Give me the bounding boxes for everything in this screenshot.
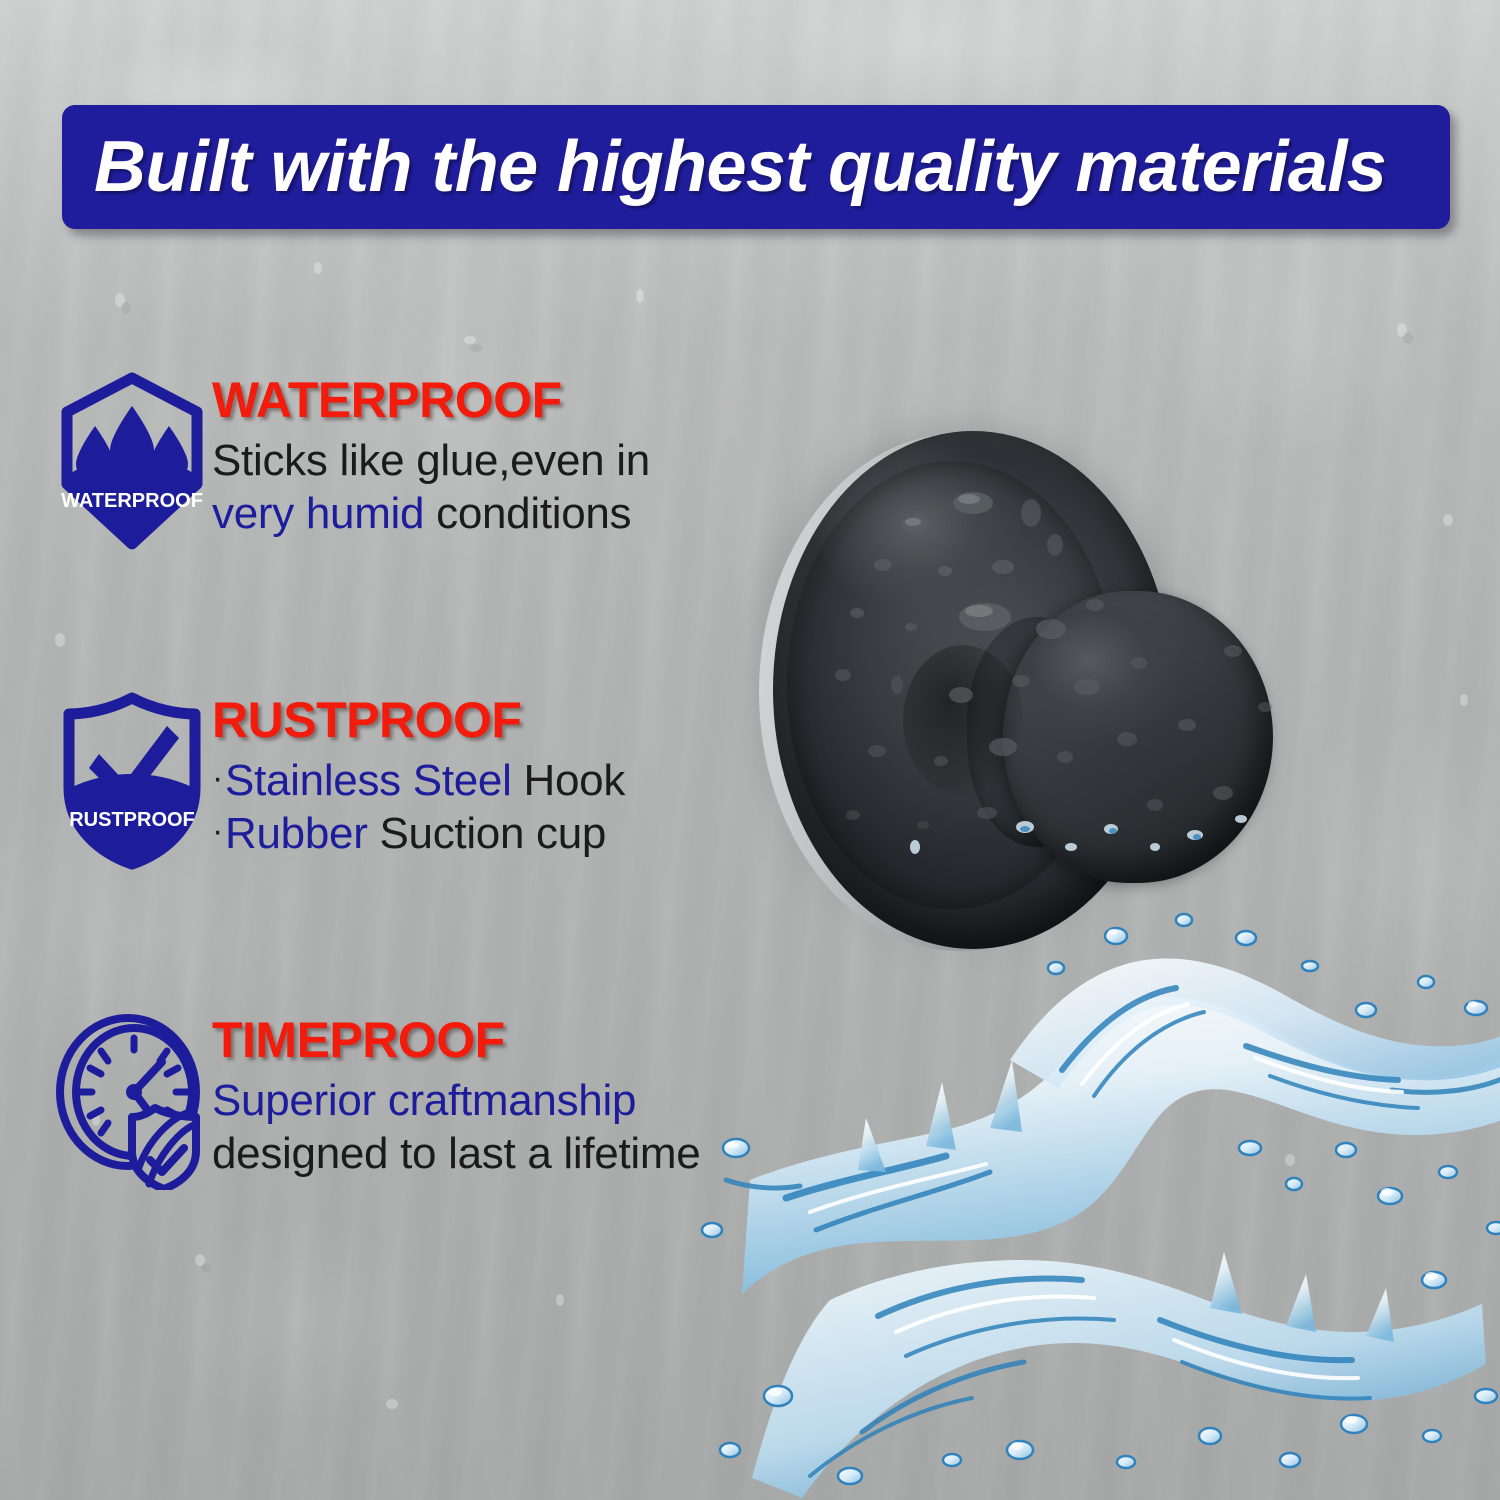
bullet-icon: · [212,759,225,797]
feature-line-text-accent: Stainless Steel [225,756,512,805]
feature-line: designed to last a lifetime [212,1127,700,1181]
feature-line-text: Hook [512,756,625,805]
feature-text-block: RUSTPROOF ·Stainless Steel Hook ·Rubber … [212,692,625,861]
product-image [735,395,1375,1035]
feature-heading: RUSTPROOF [212,694,625,748]
rustproof-shield-icon: RUSTPROOF [57,692,207,870]
bullet-icon: · [212,812,225,850]
feature-line: ·Rubber Suction cup [212,807,625,861]
feature-line-text: designed to last a lifetime [212,1129,700,1178]
product-water-droplets-icon [735,395,1375,1035]
feature-rustproof: RUSTPROOF RUSTPROOF ·Stainless Steel Hoo… [52,692,625,870]
waterproof-icon-label: WATERPROOF [61,490,203,512]
feature-line-text: conditions [424,489,631,538]
feature-icon-slot: RUSTPROOF [52,692,212,870]
waterproof-hexagon-icon: WATERPROOF [57,372,207,550]
feature-line: very humid conditions [212,487,650,541]
infographic-canvas: Built with the highest quality materials… [0,0,1500,1500]
feature-line: Superior craftmanship [212,1074,700,1128]
page-title: Built with the highest quality materials [94,131,1386,203]
feature-waterproof: WATERPROOF WATERPROOF Sticks like glue,e… [52,372,650,550]
feature-line-text: Sticks like glue,even in [212,436,650,485]
feature-line-text: Suction cup [368,809,607,858]
feature-line-text-accent: Rubber [225,809,368,858]
feature-line: ·Stainless Steel Hook [212,754,625,808]
header-banner: Built with the highest quality materials [62,105,1450,229]
rustproof-icon-label: RUSTPROOF [69,809,195,831]
timeproof-clock-shield-icon [52,1012,212,1190]
feature-line-text-accent: Superior craftmanship [212,1076,636,1125]
feature-line: Sticks like glue,even in [212,434,650,488]
feature-icon-slot: WATERPROOF [52,372,212,550]
feature-heading: TIMEPROOF [212,1014,700,1068]
feature-line-text-accent: very humid [212,489,424,538]
feature-timeproof: TIMEPROOF Superior craftmanship designed… [52,1012,700,1190]
feature-text-block: TIMEPROOF Superior craftmanship designed… [212,1012,700,1181]
feature-text-block: WATERPROOF Sticks like glue,even in very… [212,372,650,541]
feature-heading: WATERPROOF [212,374,650,428]
feature-icon-slot [52,1012,212,1190]
